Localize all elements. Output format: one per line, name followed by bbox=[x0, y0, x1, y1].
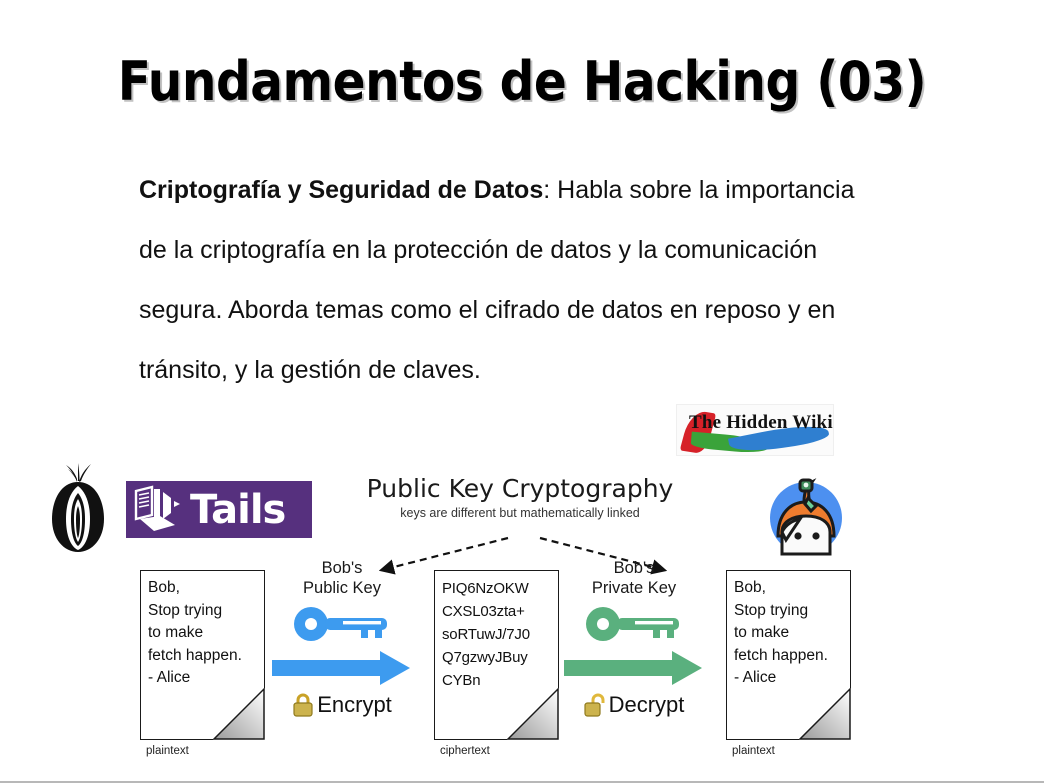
plaintext-right-text: Bob, Stop trying to make fetch happen. -… bbox=[734, 577, 845, 690]
encrypt-label: Encrypt bbox=[317, 692, 392, 718]
plaintext-document-right: Bob, Stop trying to make fetch happen. -… bbox=[726, 570, 851, 740]
page-fold-corner-icon bbox=[212, 687, 266, 741]
page-fold-corner-icon bbox=[506, 687, 560, 741]
encrypt-arrow bbox=[272, 651, 412, 685]
decrypt-arrow bbox=[564, 651, 704, 685]
ciphertext-document: PIQ6NzOKW CXSL03zta+ soRTuwJ/7J0 Q7gzwyJ… bbox=[434, 570, 559, 740]
decrypt-operation: Decrypt bbox=[564, 692, 704, 718]
plaintext-left-text: Bob, Stop trying to make fetch happen. -… bbox=[148, 577, 259, 690]
encrypt-operation: Encrypt bbox=[272, 692, 412, 718]
plaintext-document-left: Bob, Stop trying to make fetch happen. -… bbox=[140, 570, 265, 740]
slide-canvas: Fundamentos de Hacking (03) Criptografía… bbox=[0, 0, 1044, 783]
private-key-column: Bob's Private Key Decrypt bbox=[564, 558, 704, 718]
diagram-title: Public Key Cryptography bbox=[360, 474, 680, 503]
page-title: Fundamentos de Hacking (03) bbox=[0, 50, 1044, 113]
page-fold-corner-icon bbox=[798, 687, 852, 741]
body-rest: : Habla sobre la importancia de la cript… bbox=[139, 176, 855, 384]
private-key-icon bbox=[581, 604, 687, 644]
plaintext-left-caption: plaintext bbox=[146, 745, 189, 757]
diagram-subtitle: keys are different but mathematically li… bbox=[400, 506, 640, 521]
hidden-wiki-label: The Hidden Wiki bbox=[689, 412, 833, 434]
body-paragraph: Criptografía y Seguridad de Datos: Habla… bbox=[139, 160, 879, 400]
public-key-cryptography-diagram: Public Key Cryptography keys are differe… bbox=[120, 470, 910, 770]
private-key-label: Bob's Private Key bbox=[564, 558, 704, 598]
open-lock-icon bbox=[584, 693, 606, 717]
ciphertext-text: PIQ6NzOKW CXSL03zta+ soRTuwJ/7J0 Q7gzwyJ… bbox=[442, 577, 553, 692]
hidden-wiki-logo: The Hidden Wiki bbox=[676, 404, 834, 456]
tor-onion-icon bbox=[48, 462, 108, 554]
ciphertext-caption: ciphertext bbox=[440, 745, 490, 757]
public-key-column: Bob's Public Key Encrypt bbox=[272, 558, 412, 718]
plaintext-right-caption: plaintext bbox=[732, 745, 775, 757]
closed-lock-icon bbox=[292, 693, 314, 717]
public-key-icon bbox=[289, 604, 395, 644]
public-key-label: Bob's Public Key bbox=[272, 558, 412, 598]
body-lead: Criptografía y Seguridad de Datos bbox=[139, 176, 543, 204]
decrypt-label: Decrypt bbox=[609, 692, 685, 718]
